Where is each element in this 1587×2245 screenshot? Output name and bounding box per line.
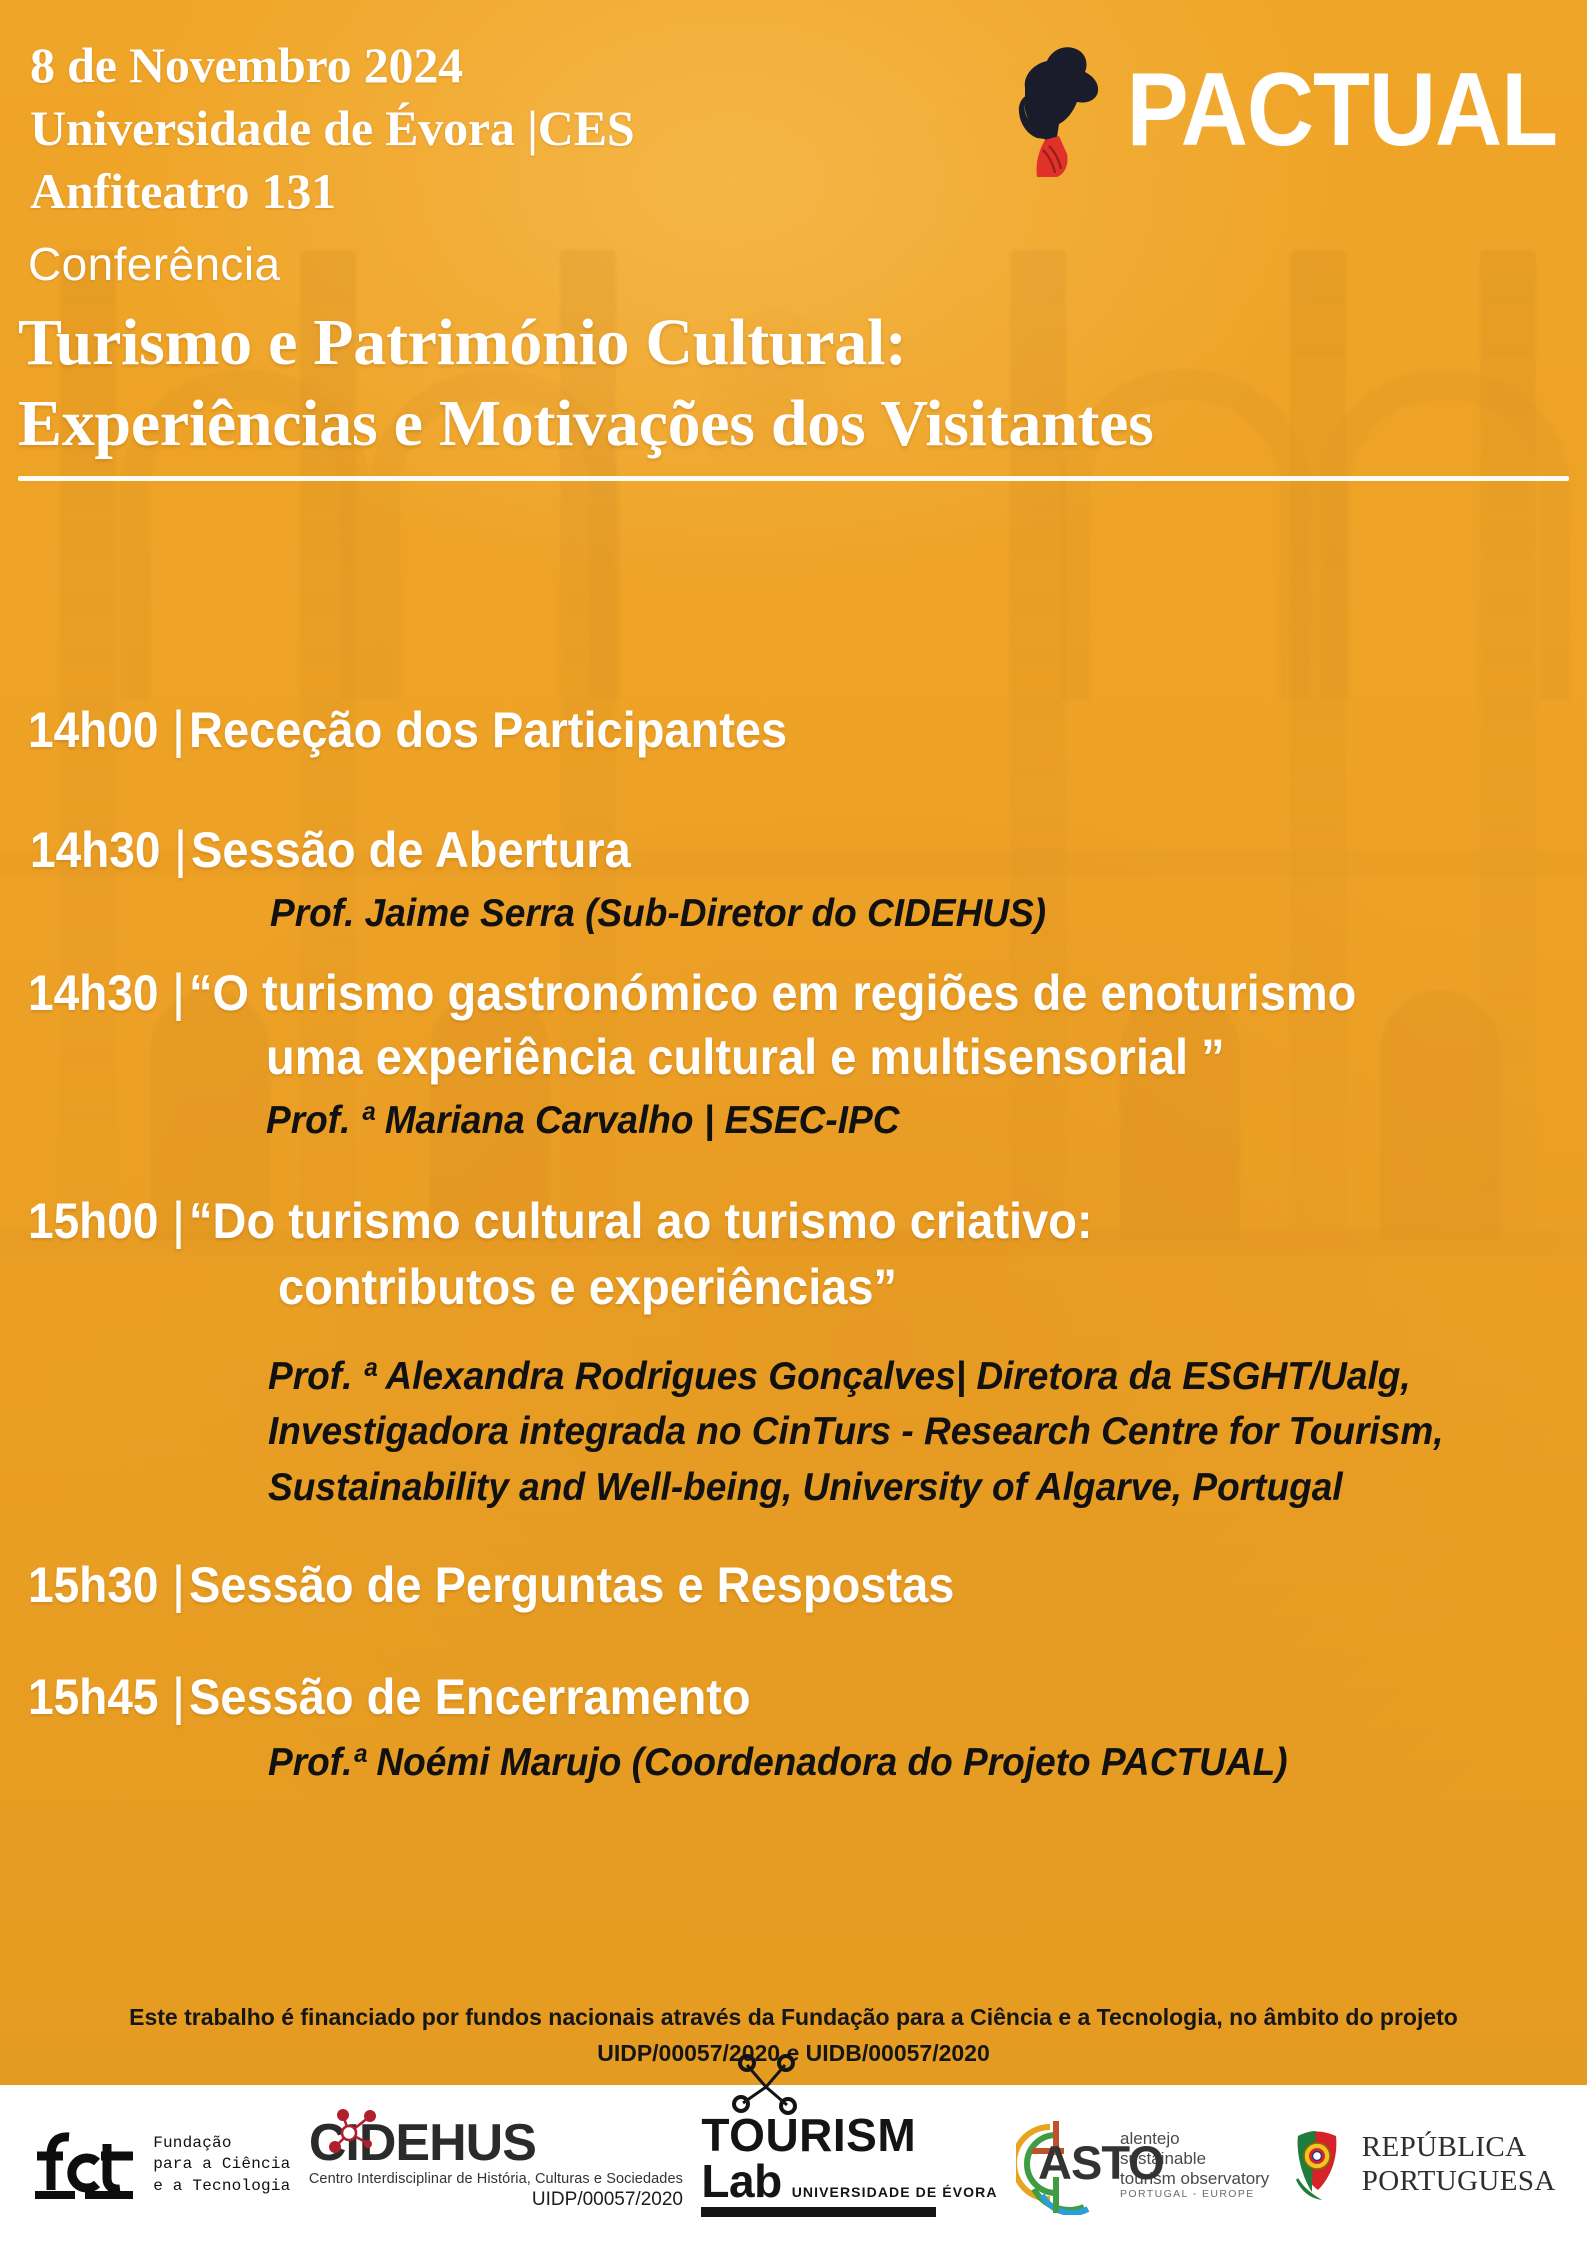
slot-label: Receção dos Participantes [189, 700, 787, 760]
tourism-lab-word: Lab [701, 2159, 781, 2204]
asto-line-4: PORTUGAL - EUROPE [1120, 2188, 1269, 2200]
programme-item: 15h30 | Sessão de Perguntas e Respostas [28, 1555, 1587, 1615]
cidehus-tagline: Centro Interdisciplinar de História, Cul… [309, 2171, 683, 2187]
slot-label-line2: contributos e experiências” [278, 1257, 1508, 1317]
conference-title: Turismo e Património Cultural: Experiênc… [18, 303, 1569, 481]
slot-separator: | [172, 1667, 186, 1727]
cidehus-network-icon [323, 2107, 385, 2163]
slot-time: 14h30 [28, 965, 158, 1023]
slot-label-line2: uma experiência cultural e multisensoria… [266, 1027, 1508, 1087]
funding-line-1: Este trabalho é financiado por fundos na… [0, 2000, 1587, 2036]
republica-line-2: PORTUGUESA [1362, 2165, 1556, 2199]
slot-separator: | [172, 700, 186, 760]
speaker-affiliation-block: Prof. ª Alexandra Rodrigues Gonçalves| D… [268, 1349, 1587, 1515]
tourism-network-icon [729, 2051, 803, 2123]
programme-item: 14h00 | Receção dos Participantes [28, 700, 1587, 760]
slot-time: 15h00 [28, 1193, 158, 1251]
programme-item: 14h30 | “O turismo gastronómico em regiõ… [28, 963, 1587, 1148]
tourism-lab-underline [701, 2207, 936, 2217]
republica-portuguesa-logo: REPÚBLICA PORTUGUESA [1288, 2128, 1556, 2202]
title-line-2: Experiências e Motivações dos Visitantes [18, 384, 1569, 465]
fct-logo-icon [31, 2128, 139, 2202]
republica-wordmark: REPÚBLICA PORTUGUESA [1362, 2131, 1556, 2198]
slot-label: “O turismo gastronómico em regiões de en… [189, 963, 1356, 1023]
conference-kicker: Conferência [28, 237, 280, 291]
event-room: Anfiteatro 131 [30, 160, 634, 223]
footer-logo-bar: Fundação para a Ciência e a Tecnologia C [0, 2085, 1587, 2245]
tourism-lab-subtitle: UNIVERSIDADE DE ÉVORA [792, 2184, 998, 2204]
slot-label: Sessão de Encerramento [189, 1667, 751, 1727]
programme-item: 15h00 | “Do turismo cultural ao turismo … [28, 1191, 1587, 1515]
slot-separator: | [172, 963, 186, 1023]
affiliation-line-2: Investigadora integrada no CinTurs - Res… [268, 1404, 1521, 1459]
slot-label: Sessão de Perguntas e Respostas [189, 1555, 954, 1615]
slot-time: 15h45 [28, 1669, 158, 1727]
fct-line-1: Fundação [153, 2133, 290, 2154]
event-date: 8 de Novembro 2024 [30, 34, 634, 97]
slot-separator: | [172, 1191, 186, 1251]
slot-time: 14h00 [28, 702, 158, 760]
affiliation-line-3: Sustainability and Well-being, Universit… [268, 1460, 1521, 1515]
fct-line-2: para a Ciência [153, 2154, 290, 2175]
slot-separator: | [172, 1555, 186, 1615]
slot-separator: | [174, 820, 188, 880]
affiliation-line-1: Prof. ª Alexandra Rodrigues Gonçalves| D… [268, 1349, 1521, 1404]
fct-wordmark: Fundação para a Ciência e a Tecnologia [153, 2133, 290, 2196]
pactual-wordmark: PACTUAL [1127, 57, 1557, 161]
title-line-1: Turismo e Património Cultural: [18, 303, 1569, 384]
title-divider [18, 476, 1569, 481]
event-venue: Universidade de Évora |CES [30, 97, 634, 160]
republica-line-1: REPÚBLICA [1362, 2131, 1556, 2165]
portugal-shield-icon [1288, 2128, 1350, 2202]
slot-speaker: Prof. Jaime Serra (Sub-Diretor do CIDEHU… [270, 886, 1521, 941]
slot-time: 15h30 [28, 1557, 158, 1615]
fct-logo: Fundação para a Ciência e a Tecnologia [31, 2128, 290, 2202]
cidehus-project-code: UIDP/00057/2020 [532, 2189, 683, 2211]
programme-list: 14h00 | Receção dos Participantes 14h30 … [0, 700, 1587, 1790]
programme-item: 14h30 | Sessão de Abertura Prof. Jaime S… [30, 820, 1587, 941]
slot-speaker: Prof. ª Mariana Carvalho | ESEC-IPC [266, 1093, 1521, 1148]
asto-wordmark: ASTO [1038, 2139, 1164, 2186]
pactual-head-silhouette-icon [989, 42, 1121, 177]
pactual-logo: PACTUAL [989, 42, 1557, 177]
asto-logo: ASTO alentejo sustainable tourism observ… [1016, 2115, 1269, 2215]
fct-line-3: e a Tecnologia [153, 2176, 290, 2197]
poster-header: 8 de Novembro 2024 Universidade de Évora… [30, 34, 1567, 223]
event-meta: 8 de Novembro 2024 Universidade de Évora… [30, 34, 634, 223]
slot-time: 14h30 [30, 822, 160, 880]
tourism-lab-logo: TOURISM Lab UNIVERSIDADE DE ÉVORA [701, 2113, 997, 2216]
slot-speaker: Prof.ª Noémi Marujo (Coordenadora do Pro… [268, 1735, 1521, 1790]
programme-item: 15h45 | Sessão de Encerramento Prof.ª No… [28, 1667, 1587, 1790]
conference-poster: 8 de Novembro 2024 Universidade de Évora… [0, 0, 1587, 2245]
slot-label: “Do turismo cultural ao turismo criativo… [189, 1191, 1093, 1251]
cidehus-logo: C IDEHUS Centro Interdisciplin [309, 2119, 683, 2211]
slot-label: Sessão de Abertura [191, 820, 631, 880]
